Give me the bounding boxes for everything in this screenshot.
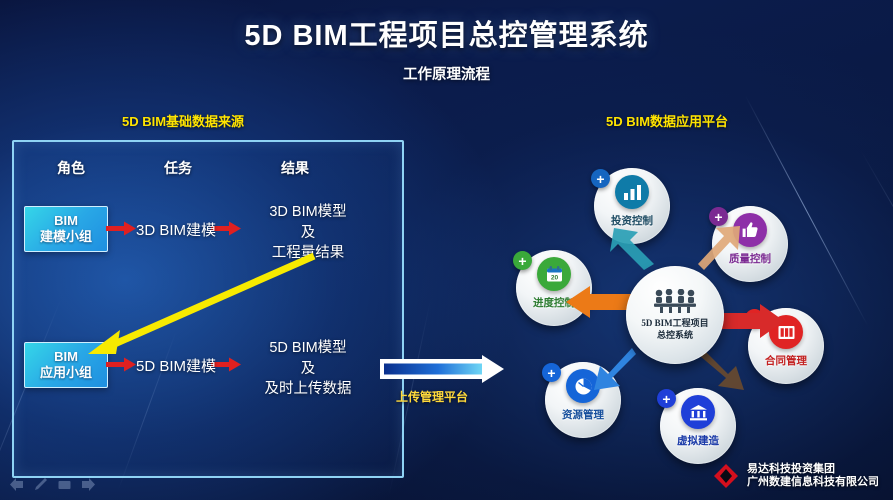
role-box-bim-application-team[interactable]: BIM 应用小组: [24, 342, 108, 388]
node-label: 合同管理: [765, 353, 807, 368]
red-arrow-icon: [106, 357, 136, 372]
slide-canvas: 5D BIM工程项目总控管理系统 工作原理流程 5D BIM基础数据来源 5D …: [0, 0, 893, 500]
result-line: 及时上传数据: [243, 379, 373, 400]
result-line: 工程量结果: [243, 243, 373, 264]
plus-badge-icon[interactable]: +: [542, 363, 561, 382]
hub-center-label-line1: 5D BIM工程项目: [641, 318, 708, 330]
next-arrow-icon[interactable]: [82, 478, 95, 491]
role-box-line1: BIM: [54, 213, 78, 229]
role-box-line2: 应用小组: [40, 365, 92, 381]
plus-badge-icon[interactable]: +: [591, 169, 610, 188]
page-subtitle: 工作原理流程: [0, 63, 893, 84]
meeting-table-icon: [652, 289, 698, 315]
hub-arrow-to-virtual-icon: [700, 348, 748, 392]
column-header-result: 结果: [281, 158, 309, 178]
column-header-task: 任务: [164, 158, 192, 178]
bar-chart-icon: [615, 175, 649, 209]
red-arrow-icon: [106, 221, 136, 236]
page-title: 5D BIM工程项目总控管理系统: [0, 12, 893, 54]
role-box-bim-modeling-team[interactable]: BIM 建模小组: [24, 206, 108, 252]
company-logo-icon: [712, 462, 740, 490]
node-label: 虚拟建造: [677, 433, 719, 448]
result-label-5d: 5D BIM模型及及时上传数据: [243, 338, 373, 400]
task-label-5d-modeling: 5D BIM建模: [136, 355, 216, 376]
result-line: 5D BIM模型: [243, 338, 373, 359]
application-platform-diagram: 5D BIM工程项目 总控系统 + 投资控制 + 质量控制 +: [500, 150, 880, 470]
hub-center-label-line2: 总控系统: [657, 330, 693, 342]
footer-company-line1: 易达科技投资集团: [747, 463, 879, 476]
plus-badge-icon[interactable]: +: [657, 389, 676, 408]
node-virtual-construction[interactable]: + 虚拟建造: [660, 388, 736, 464]
hub-arrow-to-investment-icon: [608, 228, 654, 272]
header: 5D BIM工程项目总控管理系统 工作原理流程: [0, 12, 893, 84]
node-label: 投资控制: [611, 213, 653, 228]
footer-company-line2: 广州数建信息科技有限公司: [747, 476, 879, 489]
result-line: 3D BIM模型: [243, 202, 373, 223]
presentation-controls[interactable]: [10, 478, 95, 491]
task-label-3d-modeling: 3D BIM建模: [136, 219, 216, 240]
plus-badge-icon[interactable]: +: [513, 251, 532, 270]
footer-logo: 易达科技投资集团 广州数建信息科技有限公司: [712, 462, 879, 490]
bank-icon: [681, 395, 715, 429]
column-header-role: 角色: [57, 158, 85, 178]
role-box-line1: BIM: [54, 349, 78, 365]
calendar-day-text: 20: [550, 274, 558, 281]
hub-arrow-to-quality-icon: [698, 224, 742, 272]
result-line: 及: [243, 223, 373, 244]
result-label-3d: 3D BIM模型及工程量结果: [243, 202, 373, 264]
hub-arrow-to-schedule-icon: [566, 286, 632, 318]
connector-label: 上传管理平台: [396, 388, 468, 405]
data-source-panel: [12, 140, 404, 478]
hub-center-node[interactable]: 5D BIM工程项目 总控系统: [626, 266, 724, 364]
hub-arrow-to-resource-icon: [592, 346, 638, 392]
left-section-caption: 5D BIM基础数据来源: [122, 111, 244, 130]
result-line: 及: [243, 359, 373, 380]
slide-icon[interactable]: [58, 478, 71, 491]
node-label: 资源管理: [562, 407, 604, 422]
prev-arrow-icon[interactable]: [10, 478, 23, 491]
upload-connector-arrow-icon: [378, 355, 506, 383]
footer-company-text: 易达科技投资集团 广州数建信息科技有限公司: [747, 463, 879, 490]
right-section-caption: 5D BIM数据应用平台: [606, 111, 728, 130]
pen-icon[interactable]: [34, 478, 47, 491]
hub-arrow-to-contract-icon: [714, 304, 784, 338]
role-box-line2: 建模小组: [40, 229, 92, 245]
